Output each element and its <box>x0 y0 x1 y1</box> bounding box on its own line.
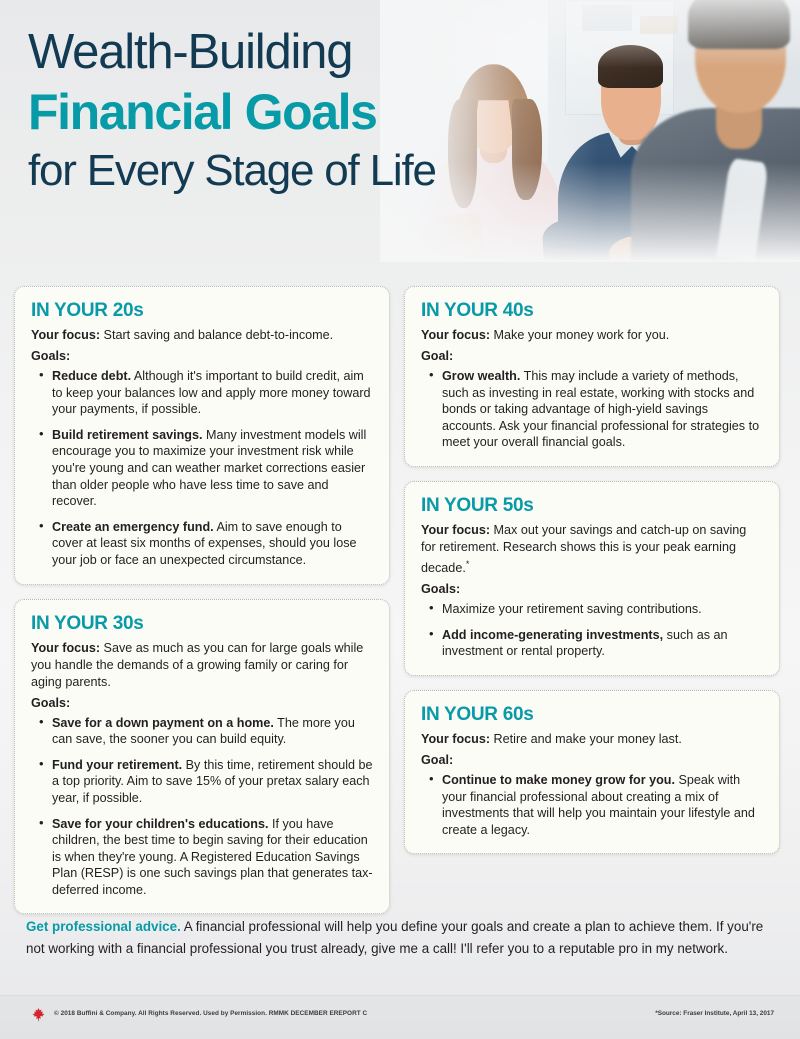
goal-list-50s: Maximize your retirement saving contribu… <box>429 601 763 660</box>
goal-list-30s: Save for a down payment on a home. The m… <box>39 715 373 899</box>
focus-label-40s: Your focus: <box>421 328 490 342</box>
list-item: Grow wealth. This may include a variety … <box>429 368 763 451</box>
goals-label-30s: Goals: <box>31 695 373 712</box>
list-item: Create an emergency fund. Aim to save en… <box>39 519 373 569</box>
cards-container: IN YOUR 20s Your focus: Start saving and… <box>0 286 800 914</box>
goal-bold: Add income-generating investments, <box>442 628 663 642</box>
list-item: Reduce debt. Although it's important to … <box>39 368 373 418</box>
card-title-50s: IN YOUR 50s <box>421 495 763 517</box>
copyright-text: © 2018 Buffini & Company. All Rights Res… <box>54 1010 367 1017</box>
list-item: Continue to make money grow for you. Spe… <box>429 772 763 838</box>
list-item: Add income-generating investments, such … <box>429 627 763 660</box>
card-in-your-60s: IN YOUR 60s Your focus: Retire and make … <box>404 690 780 854</box>
goals-label-50s: Goals: <box>421 581 763 598</box>
goal-bold: Build retirement savings. <box>52 428 202 442</box>
list-item: Fund your retirement. By this time, reti… <box>39 757 373 807</box>
title-line-3: for Every Stage of Life <box>28 143 436 199</box>
right-column: IN YOUR 40s Your focus: Make your money … <box>404 286 780 854</box>
list-item: Build retirement savings. Many investmen… <box>39 427 373 510</box>
footnote-marker: * <box>466 559 470 569</box>
focus-label-20s: Your focus: <box>31 328 100 342</box>
maple-leaf-icon <box>32 1008 45 1022</box>
header-banner: Wealth-Building Financial Goals for Ever… <box>0 0 800 268</box>
photo-fade-bottom <box>380 0 800 262</box>
page-title: Wealth-Building Financial Goals for Ever… <box>28 24 436 199</box>
goal-list-40s: Grow wealth. This may include a variety … <box>429 368 763 451</box>
card-in-your-40s: IN YOUR 40s Your focus: Make your money … <box>404 286 780 467</box>
focus-line-60s: Your focus: Retire and make your money l… <box>421 731 763 748</box>
focus-line-30s: Your focus: Save as much as you can for … <box>31 640 373 691</box>
goal-list-60s: Continue to make money grow for you. Spe… <box>429 772 763 838</box>
goal-bold: Save for your children's educations. <box>52 817 268 831</box>
focus-label-60s: Your focus: <box>421 732 490 746</box>
title-line-1: Wealth-Building <box>28 24 436 81</box>
list-item: Save for a down payment on a home. The m… <box>39 715 373 748</box>
goal-bold: Save for a down payment on a home. <box>52 716 274 730</box>
focus-label-30s: Your focus: <box>31 641 100 655</box>
left-column: IN YOUR 20s Your focus: Start saving and… <box>14 286 390 914</box>
card-title-40s: IN YOUR 40s <box>421 300 763 322</box>
goals-label-60s: Goal: <box>421 752 763 769</box>
source-note: *Source: Fraser Institute, April 13, 201… <box>655 1010 774 1017</box>
focus-text-60s: Retire and make your money last. <box>494 732 682 746</box>
goal-bold: Create an emergency fund. <box>52 520 214 534</box>
card-title-30s: IN YOUR 30s <box>31 613 373 635</box>
footer-bar: © 2018 Buffini & Company. All Rights Res… <box>0 995 800 1039</box>
cta-lead: Get professional advice. <box>26 919 181 934</box>
list-item: Save for your children's educations. If … <box>39 816 373 899</box>
infographic-page: Wealth-Building Financial Goals for Ever… <box>0 0 800 1039</box>
card-title-60s: IN YOUR 60s <box>421 704 763 726</box>
goal-list-20s: Reduce debt. Although it's important to … <box>39 368 373 569</box>
goal-text: Maximize your retirement saving contribu… <box>442 602 702 616</box>
card-in-your-50s: IN YOUR 50s Your focus: Max out your sav… <box>404 481 780 676</box>
focus-line-20s: Your focus: Start saving and balance deb… <box>31 327 373 344</box>
focus-line-40s: Your focus: Make your money work for you… <box>421 327 763 344</box>
title-line-2: Financial Goals <box>28 81 436 143</box>
card-in-your-20s: IN YOUR 20s Your focus: Start saving and… <box>14 286 390 585</box>
goal-bold: Fund your retirement. <box>52 758 182 772</box>
list-item: Maximize your retirement saving contribu… <box>429 601 763 618</box>
focus-text-40s: Make your money work for you. <box>494 328 670 342</box>
focus-label-50s: Your focus: <box>421 523 490 537</box>
card-title-20s: IN YOUR 20s <box>31 300 373 322</box>
goal-bold: Continue to make money grow for you. <box>442 773 675 787</box>
goal-bold: Grow wealth. <box>442 369 520 383</box>
goals-label-40s: Goal: <box>421 348 763 365</box>
hero-photo <box>380 0 800 262</box>
focus-text-20s: Start saving and balance debt-to-income. <box>104 328 334 342</box>
goal-bold: Reduce debt. <box>52 369 131 383</box>
card-in-your-30s: IN YOUR 30s Your focus: Save as much as … <box>14 599 390 915</box>
focus-line-50s: Your focus: Max out your savings and cat… <box>421 522 763 577</box>
goals-label-20s: Goals: <box>31 348 373 365</box>
call-to-action: Get professional advice. A financial pro… <box>26 916 774 959</box>
